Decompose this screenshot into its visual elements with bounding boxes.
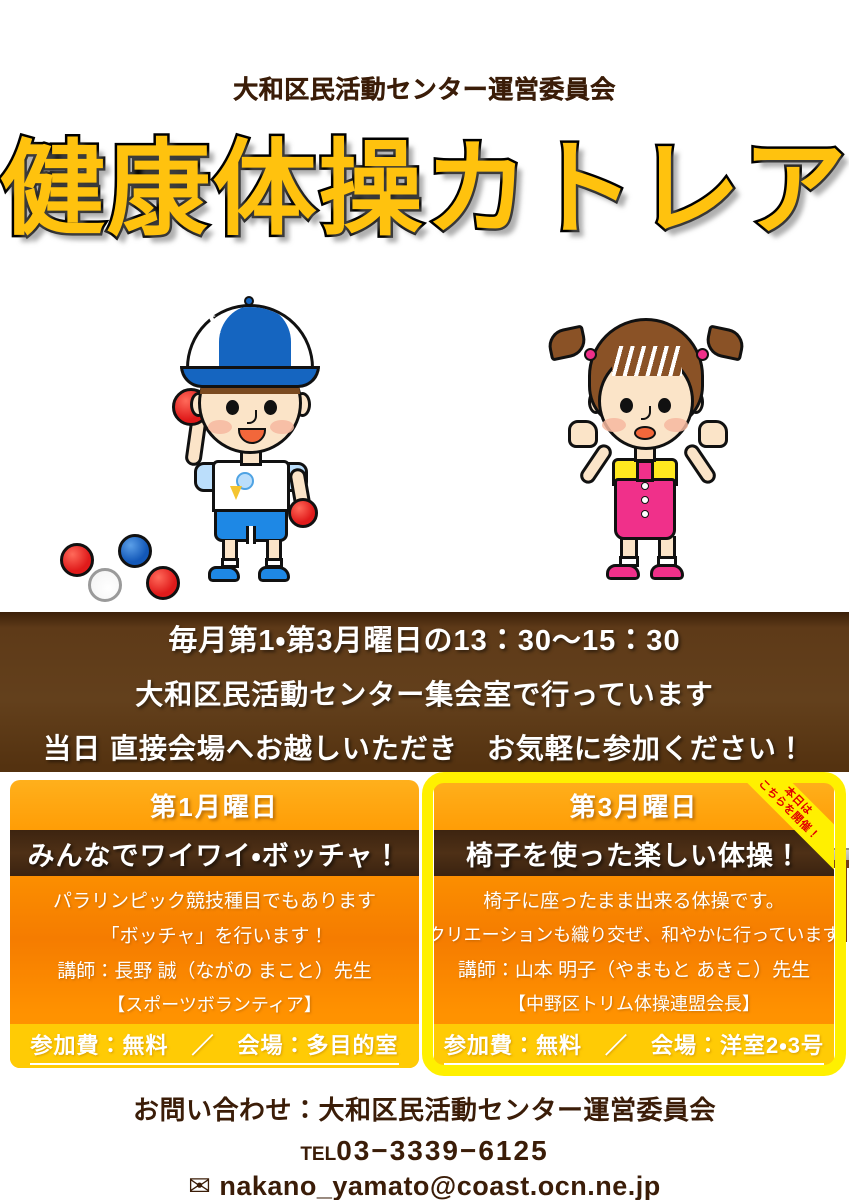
card-instructor-title: 【中野区トリム体操連盟会長】	[508, 990, 760, 1016]
program-card-first-monday[interactable]: 第1月曜日 みんなでワイワイ・ボッチャ！ パラリンピック競技種目でもあります 「…	[10, 780, 419, 1068]
girl-mouth	[634, 426, 656, 440]
boy-eye-left	[226, 400, 239, 415]
organization-line: 大和区民活動センター運営委員会	[0, 70, 849, 106]
card-head-label: 第1月曜日	[10, 780, 419, 830]
girl-shoe-left	[606, 564, 640, 580]
boccia-ball-red-2	[146, 566, 180, 600]
card-body: パラリンピック競技種目でもあります 「ボッチャ」を行います！ 講師：長野 誠（な…	[10, 876, 419, 1017]
card-desc-line-2: 「ボッチャ」を行います！	[101, 921, 329, 948]
girl-arm-right	[681, 441, 719, 486]
girl-eye-left	[620, 398, 633, 413]
boy-eye-right	[264, 400, 277, 415]
card-footer-bar: 参加費：無料 ／ 会場：多目的室	[10, 1024, 419, 1068]
girl-illustration	[540, 306, 750, 586]
girl-bangs	[612, 346, 682, 376]
email-line[interactable]: ✉ nakano_yamato@coast.ocn.ne.jp	[0, 1171, 849, 1200]
mail-icon: ✉	[188, 1171, 211, 1200]
card-instructor-title: 【スポーツボランティア】	[107, 991, 322, 1017]
poster-root: 大和区民活動センター運営委員会 健康体操カトレア	[0, 0, 849, 1200]
boy-illustration: Y	[150, 300, 350, 550]
girl-hand-left	[568, 420, 598, 448]
boy-cheek-left	[208, 420, 232, 434]
card-desc-line-1: パラリンピック競技種目でもあります	[53, 886, 376, 913]
card-instructor: 講師：長野 誠（ながの まこと）先生	[57, 956, 372, 983]
boccia-ball-blue	[118, 534, 152, 568]
girl-hairtie-left	[584, 348, 597, 361]
card-fee-venue: 参加費：無料 ／ 会場：多目的室	[30, 1028, 398, 1065]
tel-number: 03−3339−6125	[336, 1135, 548, 1166]
boy-shoe-left	[208, 566, 240, 582]
schedule-line-venue: 大和区民活動センター集会室で行っています	[135, 673, 714, 713]
boccia-ball-white	[88, 568, 122, 602]
card-footer-bar: 参加費：無料 ／ 会場：洋室2・3号	[434, 1024, 834, 1068]
card-desc-line-2: レクリエーションも織り交ぜ、和やかに行っています！	[434, 921, 834, 947]
shirt-tee-logo-icon	[230, 486, 242, 500]
girl-cheek-left	[602, 418, 626, 432]
card-fee-venue: 参加費：無料 ／ 会場：洋室2・3号	[444, 1028, 824, 1065]
cap-button	[244, 296, 254, 306]
cap-blue-panel	[219, 305, 291, 374]
cap-brim	[180, 366, 320, 388]
card-instructor: 講師：山本 明子（やまもと あきこ）先生	[458, 955, 810, 982]
girl-pigtail-right	[703, 324, 746, 361]
girl-cheek-right	[664, 418, 688, 432]
girl-pigtail-left	[545, 324, 588, 361]
schedule-line-datetime: 毎月第1・第3月曜日の13：30〜15：30	[168, 617, 680, 659]
contact-footer: お問い合わせ：大和区民活動センター運営委員会 TEL03−3339−6125 ✉…	[0, 1090, 849, 1200]
boccia-ball-red-1	[60, 543, 94, 577]
girl-shoe-right	[650, 564, 684, 580]
email-address: nakano_yamato@coast.ocn.ne.jp	[219, 1171, 660, 1200]
card-subtitle: 椅子を使った楽しい体操！	[434, 830, 834, 876]
tel-label: TEL	[300, 1144, 336, 1165]
girl-dress-button-3	[641, 510, 649, 518]
boy-shoe-right	[258, 566, 290, 582]
girl-arm-left	[577, 441, 615, 486]
boccia-ball-side	[288, 498, 318, 528]
girl-hairtie-right	[696, 348, 709, 361]
girl-eye-right	[658, 398, 671, 413]
girl-dress-bib	[636, 460, 654, 482]
girl-dress-button-1	[641, 482, 649, 490]
telephone-line[interactable]: TEL03−3339−6125	[0, 1135, 849, 1167]
boy-cheek-right	[270, 420, 294, 434]
girl-hand-right	[698, 420, 728, 448]
page-title: 健康体操カトレア	[0, 138, 849, 242]
program-card-third-monday[interactable]: 本日は こちらを開催！ 第3月曜日 椅子を使った楽しい体操！ 椅子に座ったまま出…	[434, 780, 834, 1068]
contact-line: お問い合わせ：大和区民活動センター運営委員会	[0, 1090, 849, 1127]
schedule-line-notice: 当日 直接会場へお越しいただき お気軽に参加ください！	[43, 727, 806, 767]
card-subtitle: みんなでワイワイ・ボッチャ！	[10, 830, 419, 876]
cap-letter: Y	[206, 310, 225, 340]
boy-shorts-gap	[246, 526, 256, 544]
schedule-band: 毎月第1・第3月曜日の13：30〜15：30 大和区民活動センター集会室で行って…	[0, 612, 849, 772]
card-desc-line-1: 椅子に座ったまま出来る体操です。	[483, 886, 785, 913]
girl-dress-button-2	[641, 496, 649, 504]
card-body: 椅子に座ったまま出来る体操です。 レクリエーションも織り交ぜ、和やかに行っていま…	[434, 876, 834, 1016]
program-cards: 第1月曜日 みんなでワイワイ・ボッチャ！ パラリンピック競技種目でもあります 「…	[0, 780, 849, 1070]
